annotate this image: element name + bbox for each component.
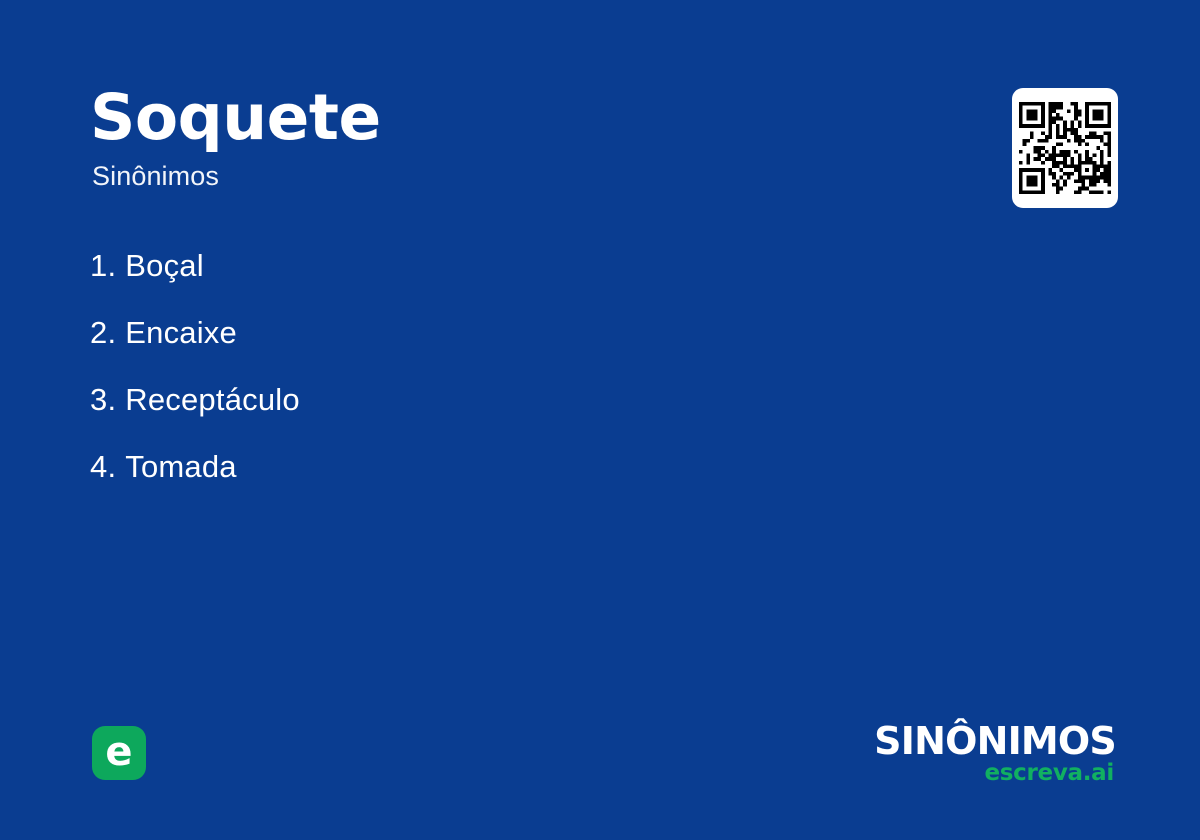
list-item-index: 2. xyxy=(90,317,116,348)
synonym-card: Soquete Sinônimos 1. Boçal 2. Encaixe 3.… xyxy=(0,0,1200,840)
list-item: 3. Receptáculo xyxy=(90,366,890,433)
list-item-label: Encaixe xyxy=(125,317,237,348)
list-item: 4. Tomada xyxy=(90,433,890,500)
site-logo-title: SINÔNIMOS xyxy=(874,722,1116,760)
list-item-label: Boçal xyxy=(125,250,204,281)
list-item: 2. Encaixe xyxy=(90,299,890,366)
page-subtitle: Sinônimos xyxy=(92,162,910,192)
qr-code-container[interactable] xyxy=(1012,88,1118,208)
list-item: 1. Boçal xyxy=(90,232,890,299)
list-item-label: Receptáculo xyxy=(125,384,300,415)
qr-code-icon xyxy=(1019,102,1111,194)
list-item-index: 3. xyxy=(90,384,116,415)
list-item-index: 1. xyxy=(90,250,116,281)
site-logo[interactable]: SINÔNIMOS escreva.ai xyxy=(874,722,1116,785)
list-item-index: 4. xyxy=(90,451,116,482)
page-title: Soquete xyxy=(90,84,910,152)
site-logo-domain: escreva.ai xyxy=(874,762,1114,785)
list-item-label: Tomada xyxy=(125,451,237,482)
brand-mark-icon[interactable]: e xyxy=(92,726,146,780)
synonym-list: 1. Boçal 2. Encaixe 3. Receptáculo 4. To… xyxy=(90,232,890,500)
brand-mark-letter: e xyxy=(105,732,132,772)
title-block: Soquete Sinônimos xyxy=(90,84,910,192)
